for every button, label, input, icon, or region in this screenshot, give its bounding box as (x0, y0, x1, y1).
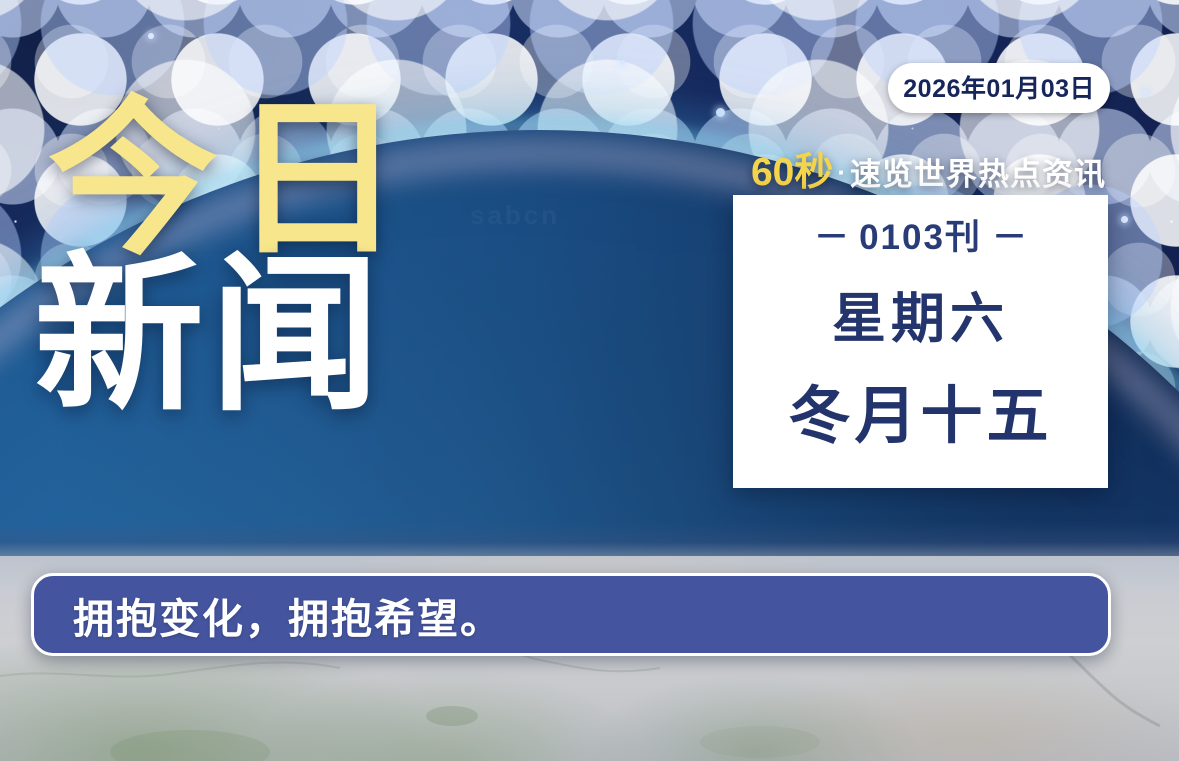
tagline-separator: · (833, 157, 850, 187)
background-watermark: sabcn (470, 200, 560, 231)
date-badge: 2026年01月03日 (888, 63, 1110, 113)
issue-info-card: －0103刊－ 星期六 冬月十五 (733, 195, 1108, 488)
issue-dash-left: － (804, 218, 859, 257)
weekday-label: 星期六 (832, 274, 1009, 353)
issue-number: 0103刊 (859, 218, 982, 257)
quote-banner: 拥抱变化，拥抱希望。 (31, 573, 1111, 656)
issue-dash-right: － (982, 218, 1037, 257)
issue-line: －0103刊－ (804, 209, 1037, 260)
masthead-line-jinri: 今日 (48, 95, 416, 265)
surface-horizon-shadow (0, 522, 1179, 556)
masthead: 今日 新闻 (48, 95, 416, 421)
tagline: 60秒·速览世界热点资讯 (751, 141, 1106, 197)
masthead-line-xinwen: 新闻 (34, 251, 416, 421)
tagline-text: 速览世界热点资讯 (850, 157, 1106, 192)
tagline-seconds: 60秒 (751, 151, 833, 194)
quote-text: 拥抱变化，拥抱希望。 (34, 585, 503, 645)
lunar-date-label: 冬月十五 (788, 365, 1052, 455)
news-poster: sabcn 今日 新闻 2026年01月03日 60秒·速览世界热点资讯 －01… (0, 0, 1179, 761)
